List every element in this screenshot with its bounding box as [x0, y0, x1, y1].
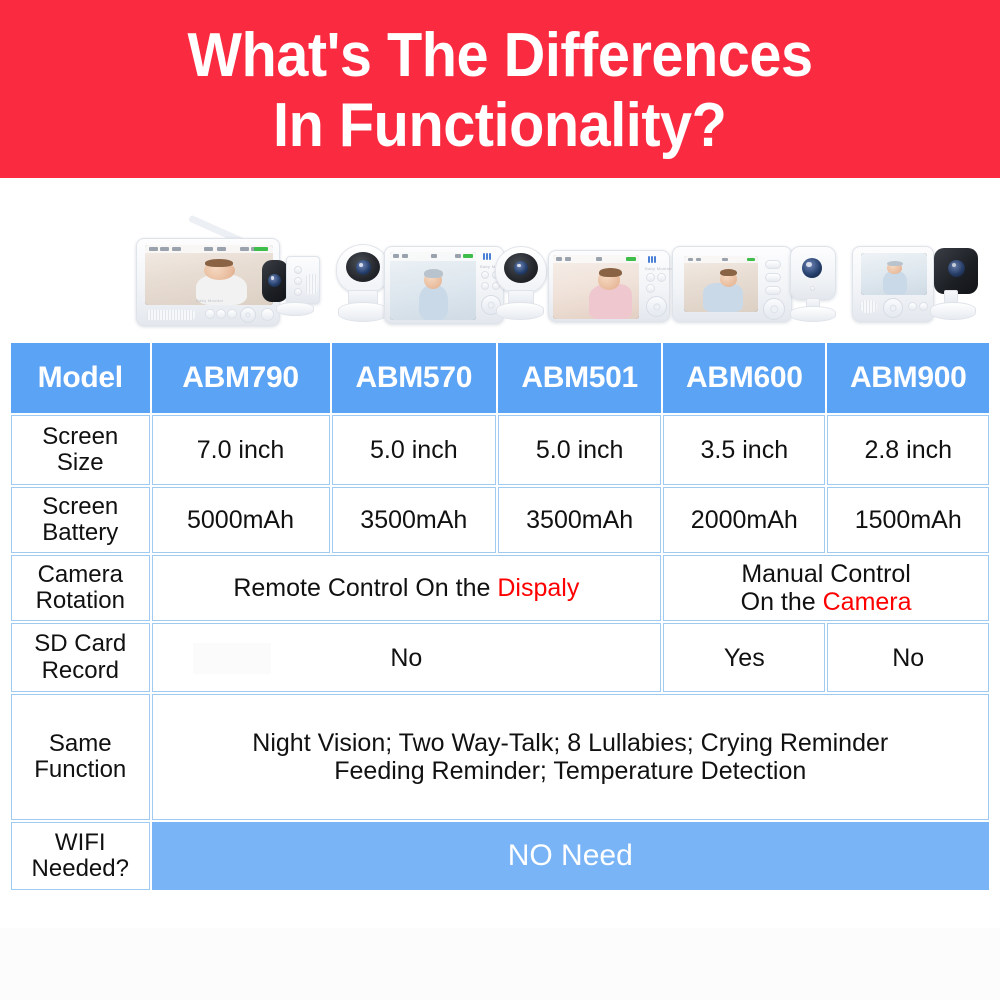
camera-stand	[496, 302, 544, 320]
table-row-screen-battery: Screen Battery 5000mAh 3500mAh 3500mAh 2…	[11, 487, 989, 553]
camera-lens-icon	[514, 261, 528, 275]
monitor-body: Baby Monitor	[136, 238, 280, 326]
row-label-sd-card-record: SD Card Record	[11, 623, 150, 692]
control-button[interactable]	[205, 309, 215, 319]
cell-camera-rotation-manual: Manual Control On the Camera	[663, 555, 989, 621]
monitor-screen	[684, 256, 758, 312]
table-row-same-function: Same Function Night Vision; Two Way-Talk…	[11, 694, 989, 820]
same-function-line-1: Night Vision; Two Way-Talk; 8 Lullabies;…	[157, 729, 984, 757]
control-button[interactable]	[646, 273, 655, 282]
banner-title-line-1: What's The Differences	[187, 21, 812, 91]
monitor-body	[672, 246, 792, 322]
table-row-screen-size: Screen Size 7.0 inch 5.0 inch 5.0 inch 3…	[11, 415, 989, 485]
bottom-whitespace-band	[0, 928, 1000, 1000]
baby-hair	[205, 259, 233, 267]
cell-battery-abm570: 3500mAh	[332, 487, 497, 553]
product-image-abm600-monitor	[672, 246, 792, 322]
control-button[interactable]	[908, 302, 917, 311]
cell-same-function-list: Night Vision; Two Way-Talk; 8 Lullabies;…	[152, 694, 989, 820]
camera-button[interactable]	[294, 277, 302, 285]
row-label-line-1: Screen	[16, 424, 145, 450]
row-label-line-1: Camera	[16, 562, 145, 588]
cell-battery-abm790: 5000mAh	[152, 487, 330, 553]
baby-hair	[599, 268, 621, 277]
baby-body	[419, 285, 448, 320]
monitor-body: Baby Monitor	[548, 250, 670, 322]
row-label-line-1: Same	[16, 731, 145, 757]
cell-screen-size-abm900: 2.8 inch	[827, 415, 989, 485]
camera-stand	[790, 306, 836, 322]
control-button[interactable]	[646, 284, 655, 293]
cell-wifi-no-need: NO Need	[152, 822, 989, 890]
table-row-camera-rotation: Camera Rotation Remote Control On the Di…	[11, 555, 989, 621]
led-indicator	[648, 256, 656, 263]
table-header-abm501: ABM501	[498, 343, 661, 413]
cell-battery-abm600: 2000mAh	[663, 487, 825, 553]
speaker-grille	[860, 300, 877, 313]
camera-lens-icon	[802, 258, 822, 278]
remote-control-text: Remote Control On the	[233, 574, 497, 602]
row-label-screen-battery: Screen Battery	[11, 487, 150, 553]
camera-lens-icon	[268, 274, 281, 287]
baby-hat	[424, 269, 444, 278]
camera-button[interactable]	[294, 288, 302, 296]
row-label-same-function: Same Function	[11, 694, 150, 820]
monitor-body	[852, 246, 934, 322]
cell-screen-size-abm790: 7.0 inch	[152, 415, 330, 485]
camera-stand	[276, 302, 314, 316]
dpad-control[interactable]	[240, 307, 256, 323]
cell-screen-size-abm570: 5.0 inch	[332, 415, 497, 485]
product-image-abm501-camera	[490, 246, 552, 322]
monitor-screen	[861, 253, 927, 295]
row-label-camera-rotation: Camera Rotation	[11, 555, 150, 621]
control-button[interactable]	[481, 282, 489, 290]
product-image-abm790-camera	[262, 244, 324, 320]
row-label-line-2: Needed?	[16, 856, 145, 882]
control-button[interactable]	[216, 309, 226, 319]
cell-sd-card-abm600: Yes	[663, 623, 825, 692]
control-button[interactable]	[481, 271, 489, 279]
camera-lens-icon	[948, 260, 965, 277]
table-header-abm900: ABM900	[827, 343, 989, 413]
row-label-line-2: Size	[16, 450, 145, 476]
cell-screen-size-abm600: 3.5 inch	[663, 415, 825, 485]
table-header-abm600: ABM600	[663, 343, 825, 413]
monitor-brand-label: Baby Monitor	[645, 266, 672, 271]
table-header-abm570: ABM570	[332, 343, 497, 413]
row-label-line-2: Rotation	[16, 588, 145, 614]
row-label-line-2: Function	[16, 757, 145, 783]
monitor-screen	[390, 252, 476, 320]
camera-stand	[338, 302, 388, 322]
table-row-sd-card-record: SD Card Record No Yes No	[11, 623, 989, 692]
product-image-abm900-camera	[926, 248, 984, 322]
control-button[interactable]	[227, 309, 237, 319]
cell-sd-card-abm900: No	[827, 623, 989, 692]
table-header-abm790: ABM790	[152, 343, 330, 413]
comparison-table: Model ABM790 ABM570 ABM501 ABM600 ABM900…	[9, 341, 991, 892]
same-function-line-2: Feeding Reminder; Temperature Detection	[157, 757, 984, 785]
row-label-line-1: SD Card	[16, 631, 145, 657]
cell-battery-abm900: 1500mAh	[827, 487, 989, 553]
row-label-line-2: Battery	[16, 520, 145, 546]
baby-hat	[887, 261, 903, 266]
monitor-screen: Baby Monitor	[145, 245, 273, 305]
erased-content-artifact	[193, 643, 271, 674]
screen-status-bar	[553, 255, 639, 263]
camera-stand	[930, 302, 976, 320]
cell-camera-rotation-remote: Remote Control On the Dispaly	[152, 555, 662, 621]
manual-control-line-2: On the Camera	[668, 588, 984, 616]
cell-battery-abm501: 3500mAh	[498, 487, 661, 553]
header-banner: What's The Differences In Functionality?	[0, 0, 1000, 178]
row-label-wifi-needed: WIFI Needed?	[11, 822, 150, 890]
table-header-model: Model	[11, 343, 150, 413]
row-label-line-1: WIFI	[16, 830, 145, 856]
screen-status-bar	[390, 252, 476, 261]
remote-control-highlight: Dispaly	[497, 574, 579, 602]
monitor-screen	[553, 255, 639, 319]
screen-status-bar	[145, 245, 273, 253]
dpad-control[interactable]	[883, 298, 903, 318]
row-label-screen-size: Screen Size	[11, 415, 150, 485]
camera-button[interactable]	[294, 266, 302, 274]
product-image-abm790-monitor: Baby Monitor	[136, 216, 280, 326]
camera-lens-icon	[356, 260, 371, 275]
product-image-abm900-monitor	[852, 246, 934, 322]
speaker-grille	[147, 310, 195, 320]
control-button[interactable]	[765, 260, 781, 269]
row-label-line-1: Screen	[16, 494, 145, 520]
control-button[interactable]	[765, 286, 781, 295]
baby-body	[883, 271, 907, 295]
monitor-body: Baby Monitor	[384, 246, 504, 324]
dpad-control[interactable]	[646, 296, 667, 317]
product-image-strip: Baby Monitor	[0, 178, 1000, 336]
table-row-wifi-needed: WIFI Needed? NO Need	[11, 822, 989, 890]
baby-body	[703, 283, 743, 312]
cell-screen-size-abm501: 5.0 inch	[498, 415, 661, 485]
control-button[interactable]	[765, 273, 781, 282]
row-label-line-2: Record	[16, 658, 145, 684]
camera-speaker-grille	[306, 274, 317, 294]
product-image-abm570-monitor: Baby Monitor	[384, 246, 504, 324]
control-button[interactable]	[657, 273, 666, 282]
banner-title-line-2: In Functionality?	[273, 91, 726, 161]
dpad-control[interactable]	[763, 298, 785, 320]
manual-control-line-2-text: On the	[741, 588, 823, 616]
screen-brand-label: Baby Monitor	[196, 298, 223, 303]
baby-hair	[720, 269, 737, 276]
screen-status-bar	[684, 256, 758, 263]
baby-body	[589, 284, 632, 319]
manual-control-highlight: Camera	[823, 588, 912, 616]
product-image-abm600-camera	[786, 246, 842, 324]
table-header-row: Model ABM790 ABM570 ABM501 ABM600 ABM900	[11, 343, 989, 413]
camera-indicator	[810, 286, 815, 291]
manual-control-line-1: Manual Control	[668, 560, 984, 588]
product-image-abm501-monitor: Baby Monitor	[548, 250, 670, 322]
